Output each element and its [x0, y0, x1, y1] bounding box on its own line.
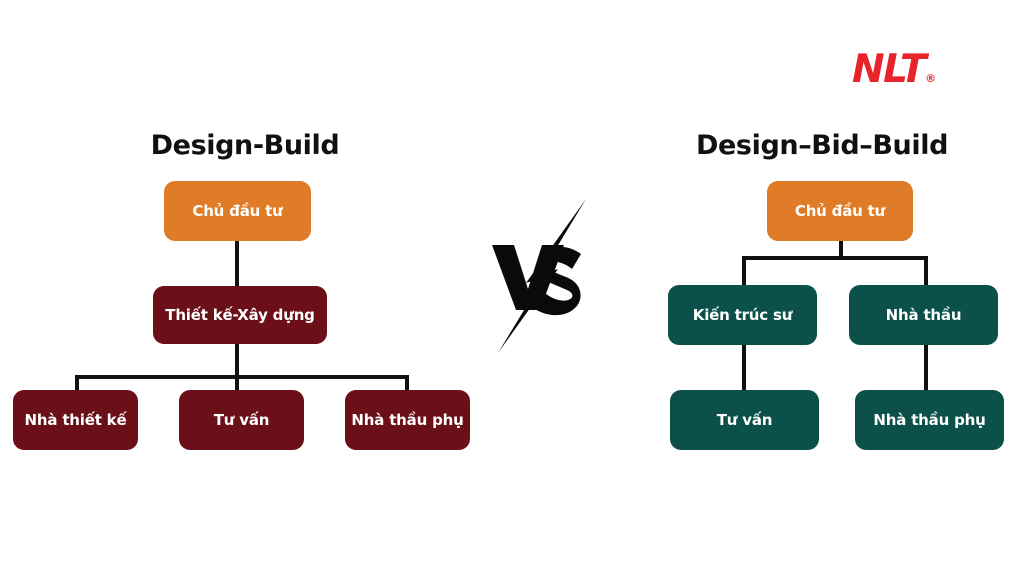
node-design-build-designbuilder[interactable]: Thiết kế-Xây dựng: [153, 286, 327, 344]
node-label: Nhà thiết kế: [25, 411, 127, 429]
node-design-build-consultant[interactable]: Tư vấn: [179, 390, 304, 450]
node-design-bid-build-contractor[interactable]: Nhà thầu: [849, 285, 998, 345]
diagram-title-design-build: Design-Build: [0, 129, 490, 163]
node-label: Tư vấn: [214, 411, 270, 429]
node-design-bid-build-architect[interactable]: Kiến trúc sư: [668, 285, 817, 345]
node-design-build-subcontractor[interactable]: Nhà thầu phụ: [345, 390, 470, 450]
connector-right-horizontal-bus: [742, 256, 928, 260]
node-design-bid-build-subcontractor[interactable]: Nhà thầu phụ: [855, 390, 1004, 450]
node-label: Chủ đầu tư: [795, 202, 885, 220]
connector-right-contractor-to-subcontractor: [924, 340, 928, 395]
node-label: Chủ đầu tư: [192, 202, 282, 220]
node-label: Thiết kế-Xây dựng: [165, 306, 314, 324]
connector-left-horizontal-bus: [75, 375, 409, 379]
node-label: Kiến trúc sư: [693, 306, 792, 324]
node-design-build-owner[interactable]: Chủ đầu tư: [164, 181, 311, 241]
node-label: Nhà thầu phụ: [873, 411, 985, 429]
nlt-logo: NLT®: [852, 46, 962, 94]
connector-right-architect-to-consultant: [742, 340, 746, 395]
lightning-bolt-vs-icon: [484, 197, 596, 355]
node-label: Nhà thầu phụ: [351, 411, 463, 429]
versus-badge: [484, 197, 596, 355]
node-design-build-designer[interactable]: Nhà thiết kế: [13, 390, 138, 450]
diagram-title-design-bid-build: Design–Bid–Build: [620, 129, 1024, 163]
node-design-bid-build-consultant[interactable]: Tư vấn: [670, 390, 819, 450]
node-design-bid-build-owner[interactable]: Chủ đầu tư: [767, 181, 913, 241]
node-label: Tư vấn: [717, 411, 773, 429]
diagram-canvas: NLT® Design-Build Chủ đầu tư Thiết kế-Xâ…: [0, 0, 1024, 578]
node-label: Nhà thầu: [886, 306, 962, 324]
nlt-logo-text: NLT: [852, 47, 925, 92]
registered-trademark-icon: ®: [925, 72, 936, 85]
